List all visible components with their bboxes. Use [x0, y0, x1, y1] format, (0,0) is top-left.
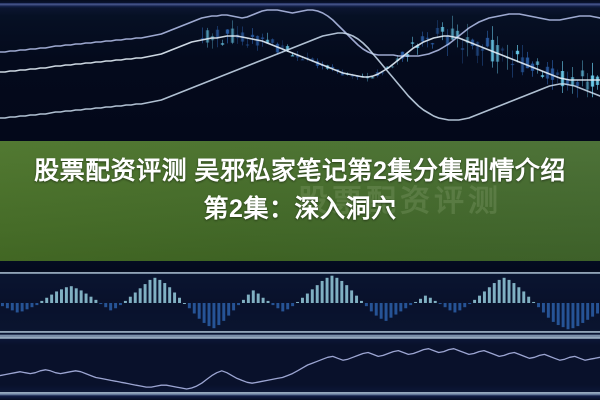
banner-title-block: 股票配资评测 吴邪私家笔记第2集分集剧情介绍 第2集：深入洞穴	[0, 152, 600, 228]
headline-secondary: 第2集：深入洞穴	[0, 190, 600, 228]
histogram-panel-bottom-rule	[0, 331, 600, 333]
top-divider-rule	[0, 3, 600, 6]
histogram-panel-top-rule	[0, 272, 600, 274]
indicator-panel-tint	[0, 339, 600, 392]
indicator-panel-bottom-rule	[0, 392, 600, 394]
headline-primary: 股票配资评测 吴邪私家笔记第2集分集剧情介绍	[0, 152, 600, 190]
indicator-panel-top-rule	[0, 337, 600, 339]
histogram-panel-tint	[0, 274, 600, 331]
banner-image: 股票配资评测 股票配资评测 吴邪私家笔记第2集分集剧情介绍 第2集：深入洞穴	[0, 0, 600, 400]
